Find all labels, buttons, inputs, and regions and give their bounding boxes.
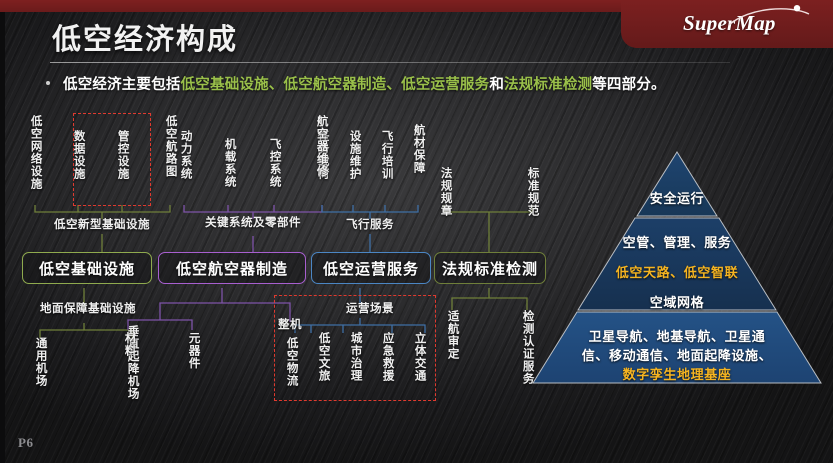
leaf-infra-down-1: 通用机场 <box>33 337 47 387</box>
pyramid-tier-6: 信、移动通信、地面起降设施、 <box>521 347 833 366</box>
mid-oper-up: 飞行服务 <box>324 218 416 232</box>
mid-infra-down: 地面保障基础设施 <box>14 302 162 316</box>
leaf-infra-4: 低空航路图 <box>163 115 177 178</box>
leaf-reg-down-1: 适航审定 <box>445 310 459 360</box>
leaf-oper-down-4: 应急救援 <box>380 332 394 382</box>
leaf-oper-down-5: 立体交通 <box>412 332 426 382</box>
logo-arc-icon <box>727 5 815 31</box>
capability-pyramid: 安全运行 空管、管理、服务 低空天路、低空智联 空域网格 卫星导航、地基导航、卫… <box>521 150 833 406</box>
mid-manu-up: 关键系统及零部件 <box>185 216 321 230</box>
bullet-item-1: 低空基础设施、 <box>181 73 284 94</box>
page-title: 低空经济构成 <box>52 16 238 58</box>
bullet-item-2: 低空航空器制造、 <box>284 73 402 94</box>
leaf-infra-1: 低空网络设施 <box>28 115 42 190</box>
mid-oper-down: 运营场景 <box>330 302 410 316</box>
pillar-box-2[interactable]: 低空航空器制造 <box>158 252 306 284</box>
pyramid-tier-4: 空域网格 <box>521 292 833 311</box>
leaf-oper-1: 航空器维修 <box>314 115 328 178</box>
pillar-box-3[interactable]: 低空运营服务 <box>311 252 431 284</box>
pyramid-tier-5: 卫星导航、地基导航、卫星通 <box>521 328 833 347</box>
bullet-dot-icon <box>46 81 50 85</box>
pyramid-tier-7: 数字孪生地理基座 <box>521 366 833 385</box>
supermap-logo: SuperMap <box>675 8 815 40</box>
page-number: P6 <box>18 435 33 451</box>
bullet-item-3: 低空运营服务 <box>401 73 489 94</box>
title-divider <box>50 62 730 63</box>
bullet-item-4: 法规标准检测 <box>504 73 592 94</box>
leaf-manu-down-2: 元器件 <box>186 332 200 370</box>
leaf-manu-down-1: 材料 <box>122 332 136 357</box>
leaf-oper-2: 设施维护 <box>347 130 361 180</box>
leaf-infra-3: 管控设施 <box>115 130 129 180</box>
leaf-oper-down-3: 城市治理 <box>348 332 362 382</box>
pyramid-tier-1: 安全运行 <box>521 188 833 207</box>
leaf-oper-down-2: 低空文旅 <box>316 332 330 382</box>
bullet-conjunction: 和 <box>489 73 504 94</box>
leaf-reg-1: 法规规章 <box>438 167 452 217</box>
leaf-manu-1: 动力系统 <box>178 130 192 180</box>
summary-bullet: 低空经济主要包括 低空基础设施、 低空航空器制造、 低空运营服务 和 法规标准检… <box>46 72 806 94</box>
leaf-oper-down-1: 低空物流 <box>284 337 298 387</box>
leaf-manu-3: 飞控系统 <box>267 138 281 188</box>
leaf-manu-2: 机载系统 <box>222 138 236 188</box>
header-logo-panel: SuperMap <box>621 0 833 48</box>
left-edge-strip <box>0 12 5 463</box>
leaf-oper-4: 航材保障 <box>411 124 425 174</box>
leaf-oper-3: 飞行培训 <box>379 130 393 180</box>
pyramid-tier-3: 低空天路、低空智联 <box>521 262 833 281</box>
pillar-box-1[interactable]: 低空基础设施 <box>22 252 152 284</box>
mid-infra-up: 低空新型基础设施 <box>28 218 176 232</box>
bullet-tail: 等四部分。 <box>592 73 666 94</box>
leaf-infra-2: 数据设施 <box>71 130 85 180</box>
pyramid-tier-2: 空管、管理、服务 <box>521 232 833 251</box>
slide-canvas: SuperMap 低空经济构成 低空经济主要包括 低空基础设施、 低空航空器制造… <box>0 0 833 463</box>
bullet-lead: 低空经济主要包括 <box>63 73 181 94</box>
